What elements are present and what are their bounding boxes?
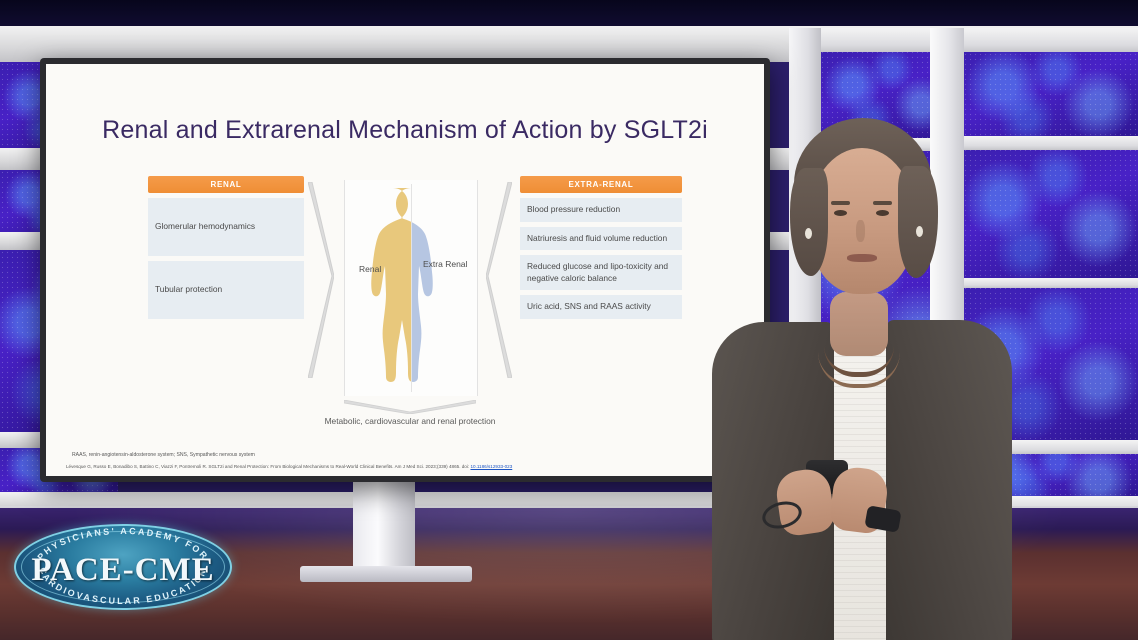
presenter-hair-right xyxy=(898,166,938,278)
figure-label-renal: Renal xyxy=(359,264,381,275)
monitor-stand xyxy=(353,482,415,574)
figure-caption: Metabolic, cardiovascular and renal prot… xyxy=(322,416,498,427)
monitor-stand-base xyxy=(300,566,472,582)
presenter xyxy=(690,70,1030,640)
figure-label-extrarenal: Extra Renal xyxy=(423,259,467,270)
pace-cme-logo: PHYSICIANS' ACADEMY FOR CARDIOVASCULAR E… xyxy=(14,524,232,610)
renal-item-2: Tubular protection xyxy=(148,261,304,319)
presenter-brow-right xyxy=(873,201,892,205)
presenter-mouth xyxy=(847,254,877,262)
presenter-nose xyxy=(856,220,865,242)
extrarenal-item-1: Blood pressure reduction xyxy=(520,198,682,222)
abbreviations-note: RAAS, renin-angiotensin-aldosterone syst… xyxy=(72,452,255,458)
presenter-earring-left xyxy=(805,228,812,239)
extrarenal-column: EXTRA-RENAL Blood pressure reduction Nat… xyxy=(520,176,682,319)
mechanism-diagram: RENAL Glomerular hemodynamics Tubular pr… xyxy=(72,176,744,426)
citation-line: Lévesque G, Russo E, Bonadibo S, Battino… xyxy=(66,464,512,469)
slide-title: Renal and Extrarenal Mechanism of Action… xyxy=(46,116,764,145)
renal-column: RENAL Glomerular hemodynamics Tubular pr… xyxy=(148,176,304,319)
logo-wordmark: PACE-CME xyxy=(14,552,232,589)
video-frame: Renal and Extrarenal Mechanism of Action… xyxy=(0,0,1138,640)
doi-link[interactable]: 10.1186/s12933-023 xyxy=(470,464,512,469)
presenter-eye-left xyxy=(834,210,847,216)
slide-screen: Renal and Extrarenal Mechanism of Action… xyxy=(46,64,764,476)
down-arrow-icon xyxy=(344,400,476,414)
ceiling-strip xyxy=(0,0,1138,26)
extrarenal-column-header: EXTRA-RENAL xyxy=(520,176,682,193)
citation-text: Lévesque G, Russo E, Bonadibo S, Battino… xyxy=(66,464,469,469)
presentation-monitor: Renal and Extrarenal Mechanism of Action… xyxy=(40,58,770,482)
extrarenal-item-3: Reduced glucose and lipo-toxicity and ne… xyxy=(520,255,682,290)
presenter-hair-left xyxy=(790,168,828,276)
presenter-jacket-right xyxy=(886,320,1012,640)
presenter-earring-right xyxy=(916,226,923,237)
left-arrow-icon xyxy=(308,182,334,378)
right-arrow-icon xyxy=(486,182,512,378)
presenter-brow-left xyxy=(831,201,850,205)
renal-item-1: Glomerular hemodynamics xyxy=(148,198,304,256)
body-figure: Renal Extra Renal xyxy=(344,180,478,396)
figure-divider xyxy=(411,184,412,392)
renal-column-header: RENAL xyxy=(148,176,304,193)
studio-right-band-1 xyxy=(820,28,1138,52)
extrarenal-item-2: Natriuresis and fluid volume reduction xyxy=(520,227,682,251)
extrarenal-item-4: Uric acid, SNS and RAAS activity xyxy=(520,295,682,319)
presenter-eye-right xyxy=(876,210,889,216)
